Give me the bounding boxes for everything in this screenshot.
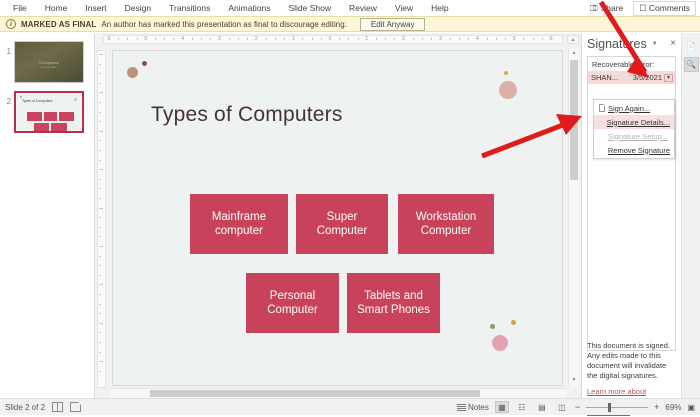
- thumb-box-5: [51, 123, 67, 131]
- signatures-pane-title: Signatures: [587, 37, 647, 51]
- ruler-tick-label: 6: [549, 36, 552, 42]
- vertical-ruler-strip: [97, 50, 106, 388]
- thumb-box-1: [27, 112, 42, 121]
- thumb-dot-a: [20, 96, 22, 98]
- ruler-tick-label: 5: [513, 36, 516, 42]
- slide-canvas[interactable]: Types of Computers Mainframe computer Su…: [112, 50, 563, 386]
- info-icon: i: [6, 19, 16, 29]
- share-label: Share: [601, 3, 624, 13]
- vertical-ruler-pip: [99, 92, 103, 93]
- chevron-down-icon[interactable]: ▼: [652, 41, 658, 47]
- ruler-tick-label: 3: [439, 36, 442, 42]
- ruler-tick-label: 1: [292, 36, 295, 42]
- menu-item-signature-details[interactable]: Signature Details...: [594, 115, 674, 129]
- thumbnail-1-subtitle: A presentation: [41, 66, 57, 69]
- ruler-pip: [533, 38, 534, 40]
- vertical-ruler-pip: [99, 342, 101, 343]
- view-normal-button[interactable]: ▦: [495, 401, 509, 413]
- ruler-strip: [103, 35, 563, 44]
- ruler-pip: [339, 38, 340, 40]
- shape-line-1: Workstation: [416, 211, 477, 223]
- slide-editor: 6543210123456 ▲ Types of Computers: [95, 33, 581, 398]
- horizontal-scrollbar-thumb[interactable]: [150, 390, 480, 397]
- shape-line-1: Super: [327, 211, 358, 223]
- vertical-ruler-pip: [99, 294, 101, 295]
- vertical-ruler-pip: [99, 227, 101, 228]
- ruler-pip: [523, 38, 524, 40]
- shape-line-1: Personal: [270, 290, 315, 302]
- status-bar: Slide 2 of 2 Notes ▦ ☷ ▤ ◫ − + 69% ▣: [0, 398, 700, 415]
- workspace: 1 Computers A presentation 2 Types of Co…: [0, 33, 700, 398]
- vertical-ruler-pip: [99, 160, 101, 161]
- vertical-ruler-pip: [99, 140, 101, 141]
- ruler-collapse-button[interactable]: ▲: [567, 35, 579, 44]
- slide-canvas-area: Types of Computers Mainframe computer Su…: [108, 46, 581, 398]
- ribbon-tab-view[interactable]: View: [386, 0, 422, 16]
- thumb-box-2: [44, 112, 57, 121]
- vertical-ruler-pip: [99, 131, 103, 132]
- menu-item-label: Sign Again...: [608, 104, 650, 113]
- ruler-pip: [118, 38, 119, 40]
- accessibility-icon[interactable]: [70, 402, 81, 412]
- ruler-pip: [155, 38, 156, 40]
- ruler-pip: [422, 38, 423, 40]
- ruler-pip: [376, 38, 377, 40]
- vertical-ruler-pip: [99, 64, 101, 65]
- ruler-pip: [450, 38, 451, 40]
- menu-item-label: Signature Details...: [607, 118, 670, 127]
- slide-thumbnail-panel[interactable]: 1 Computers A presentation 2 Types of Co…: [0, 33, 95, 398]
- ruler-pip: [468, 38, 469, 40]
- ruler-pip: [505, 38, 506, 40]
- ruler-pip: [201, 38, 202, 40]
- shape-text: Tablets and Smart Phones: [357, 289, 430, 318]
- edit-anyway-button[interactable]: Edit Anyway: [360, 18, 426, 31]
- notice-body-text: An author has marked this presentation a…: [101, 20, 346, 29]
- ruler-pip: [321, 38, 322, 40]
- thumbnail-preview-1[interactable]: Computers A presentation: [14, 41, 84, 83]
- shape-workstation-computer[interactable]: Workstation Computer: [398, 194, 494, 254]
- vertical-ruler-pip: [99, 352, 101, 353]
- thumbnail-item-2[interactable]: 2 Types of Computers: [0, 89, 94, 139]
- decor-dot-topleft-large: [127, 67, 138, 78]
- view-slide-sorter-button[interactable]: ☷: [515, 401, 529, 413]
- ruler-pip: [137, 38, 138, 40]
- notes-label: Notes: [468, 403, 489, 412]
- shape-super-computer[interactable]: Super Computer: [296, 194, 388, 254]
- vertical-ruler-pip: [99, 304, 101, 305]
- vertical-ruler-pip: [99, 265, 101, 266]
- vertical-ruler-pip: [99, 332, 101, 333]
- recoverable-error-label: Recoverable error:: [588, 57, 675, 71]
- thumb-box-3: [59, 112, 74, 121]
- share-button[interactable]: ⎄ Share: [584, 1, 630, 16]
- signatures-list: Recoverable error: SHAN... 3/5/2021 ▼ Si…: [587, 56, 676, 351]
- signature-context-menu: Sign Again... Signature Details... Signa…: [593, 99, 675, 159]
- ruler-pip: [192, 38, 193, 40]
- shape-line-2: Computer: [421, 225, 472, 237]
- notes-button[interactable]: Notes: [457, 403, 489, 412]
- comment-bubble-icon: ☐: [639, 3, 647, 14]
- vertical-ruler-pip: [99, 73, 101, 74]
- ruler-pip: [487, 38, 488, 40]
- zoom-level-label[interactable]: 69%: [665, 403, 681, 412]
- slide-title[interactable]: Types of Computers: [151, 103, 343, 127]
- ruler-tick-label: 0: [328, 36, 331, 42]
- decor-dot-bottom-orange: [511, 320, 516, 325]
- signature-entry[interactable]: SHAN... 3/5/2021 ▼: [588, 71, 675, 84]
- ruler-pip: [312, 38, 313, 40]
- ruler-pip: [247, 38, 248, 40]
- vertical-ruler-pip: [99, 198, 101, 199]
- shape-line-2: Computer: [317, 225, 368, 237]
- ribbon-tab-slide-show[interactable]: Slide Show: [279, 0, 340, 16]
- signatures-pane-icon[interactable]: 🔍: [684, 57, 699, 72]
- comments-button[interactable]: ☐ Comments: [633, 1, 696, 16]
- canvas-wrapper: Types of Computers Mainframe computer Su…: [95, 46, 581, 398]
- menu-item-sign-again[interactable]: Sign Again...: [594, 101, 674, 115]
- view-slideshow-button[interactable]: ◫: [555, 401, 569, 413]
- ruler-tick-label: 3: [218, 36, 221, 42]
- zoom-out-button[interactable]: −: [575, 402, 580, 412]
- shape-text: Mainframe computer: [212, 210, 266, 239]
- shape-personal-computer[interactable]: Personal Computer: [246, 273, 339, 333]
- thumbnail-2-title: Types of Computers: [22, 99, 52, 103]
- menu-item-remove-signature[interactable]: Remove Signature: [594, 143, 674, 157]
- slide-counter[interactable]: Slide 2 of 2: [5, 403, 45, 412]
- ruler-pip: [358, 38, 359, 40]
- ruler-pip: [496, 38, 497, 40]
- vertical-ruler-pip: [99, 150, 101, 151]
- shape-text: Workstation Computer: [416, 210, 477, 239]
- vertical-ruler-pip: [99, 371, 101, 372]
- vertical-ruler-pip: [99, 121, 101, 122]
- vertical-ruler-pip: [99, 208, 103, 209]
- ruler-pip: [431, 38, 432, 40]
- ruler-pip: [302, 38, 303, 40]
- decor-dot-bottom-green: [490, 324, 495, 329]
- ruler-tick-label: 1: [365, 36, 368, 42]
- ruler-pip: [385, 38, 386, 40]
- ruler-pip: [127, 38, 128, 40]
- ruler-pip: [266, 38, 267, 40]
- zoom-slider[interactable]: [586, 407, 648, 408]
- vertical-ruler-pip: [99, 236, 101, 237]
- shape-line-1: Tablets and: [364, 290, 423, 302]
- ruler-pip: [413, 38, 414, 40]
- notes-icon: [457, 403, 466, 411]
- scroll-down-icon[interactable]: ▼: [569, 375, 579, 386]
- vertical-ruler-pip: [99, 112, 101, 113]
- horizontal-scrollbar[interactable]: [110, 388, 567, 398]
- fit-to-window-icon[interactable]: ▣: [687, 403, 695, 412]
- vertical-ruler-pip: [99, 179, 101, 180]
- decor-dot-topleft-small: [142, 61, 147, 66]
- ruler-pip: [542, 38, 543, 40]
- signatures-pane-header: Signatures ▼ ×: [587, 37, 676, 51]
- designer-icon[interactable]: 📄: [684, 39, 699, 54]
- thumbnail-item-1[interactable]: 1 Computers A presentation: [0, 39, 94, 89]
- marked-as-final-bar: i MARKED AS FINAL An author has marked t…: [0, 16, 700, 32]
- ribbon-tab-review[interactable]: Review: [340, 0, 386, 16]
- horizontal-ruler: 6543210123456 ▲: [95, 33, 581, 46]
- vertical-ruler-pip: [99, 217, 101, 218]
- ruler-pip: [394, 38, 395, 40]
- vertical-ruler-pip: [99, 323, 103, 324]
- shape-line-2: Smart Phones: [357, 304, 430, 316]
- menu-item-label: Remove Signature: [608, 146, 670, 155]
- thumb-dot-b: [74, 98, 77, 101]
- vertical-ruler: [95, 46, 108, 398]
- spell-check-icon[interactable]: [52, 402, 63, 412]
- shape-line-2: Computer: [267, 304, 318, 316]
- thumb-box-4: [34, 123, 49, 131]
- scroll-up-icon[interactable]: ▲: [569, 48, 579, 59]
- thumbnail-1-title: Computers: [39, 60, 59, 65]
- thumbnail-preview-2[interactable]: Types of Computers: [14, 91, 84, 133]
- vertical-ruler-pip: [99, 275, 101, 276]
- menu-item-label: Signature Setup...: [608, 132, 668, 141]
- ruler-pip: [173, 38, 174, 40]
- vertical-ruler-pip: [99, 83, 101, 84]
- ribbon-tab-insert[interactable]: Insert: [76, 0, 115, 16]
- ribbon-tab-design[interactable]: Design: [116, 0, 160, 16]
- notice-strong-text: MARKED AS FINAL: [21, 20, 96, 29]
- ruler-pip: [348, 38, 349, 40]
- shape-mainframe-computer[interactable]: Mainframe computer: [190, 194, 288, 254]
- ruler-pip: [210, 38, 211, 40]
- signature-signer-name: SHAN...: [591, 73, 618, 82]
- ruler-tick-label: 2: [402, 36, 405, 42]
- ribbon-tab-file[interactable]: File: [4, 0, 36, 16]
- ribbon-tab-help[interactable]: Help: [422, 0, 457, 16]
- ruler-pip: [238, 38, 239, 40]
- ribbon-tab-transitions[interactable]: Transitions: [160, 0, 219, 16]
- shape-line-2: computer: [215, 225, 263, 237]
- document-signed-text: This document is signed.: [587, 341, 676, 351]
- thumbnail-number: 2: [4, 91, 14, 106]
- ruler-pip: [164, 38, 165, 40]
- ruler-tick-label: 4: [476, 36, 479, 42]
- ruler-tick-label: 5: [144, 36, 147, 42]
- vertical-ruler-pip: [99, 54, 103, 55]
- decor-dot-topright-small: [504, 71, 508, 75]
- vertical-ruler-pip: [99, 313, 101, 314]
- shape-tablets-smart-phones[interactable]: Tablets and Smart Phones: [347, 273, 440, 333]
- close-icon[interactable]: ×: [670, 39, 676, 49]
- share-icon: ⎄: [590, 3, 599, 14]
- shape-text: Personal Computer: [267, 289, 318, 318]
- vertical-ruler-pip: [99, 169, 103, 170]
- decor-dot-topright-large: [499, 81, 517, 99]
- ruler-tick-label: 4: [181, 36, 184, 42]
- vertical-scrollbar[interactable]: ▲ ▼: [568, 48, 579, 386]
- view-reading-button[interactable]: ▤: [535, 401, 549, 413]
- shape-line-1: Mainframe: [212, 211, 266, 223]
- vertical-scrollbar-thumb[interactable]: [570, 60, 578, 180]
- vertical-ruler-pip: [99, 188, 101, 189]
- ribbon-tab-animations[interactable]: Animations: [219, 0, 279, 16]
- ribbon-tab-home[interactable]: Home: [36, 0, 77, 16]
- zoom-slider-handle[interactable]: [608, 403, 611, 412]
- ruler-pip: [275, 38, 276, 40]
- vertical-ruler-pip: [99, 284, 103, 285]
- decor-dot-bottom-pink: [492, 335, 508, 351]
- vertical-ruler-pip: [99, 256, 101, 257]
- ruler-tick-label: 2: [255, 36, 258, 42]
- ruler-pip: [459, 38, 460, 40]
- vertical-ruler-pip: [99, 102, 101, 103]
- shape-text: Super Computer: [317, 210, 368, 239]
- vertical-ruler-pip: [99, 246, 103, 247]
- ruler-tick-label: 6: [107, 36, 110, 42]
- ribbon-tab-bar: File Home Insert Design Transitions Anim…: [0, 0, 700, 16]
- signature-invalidate-text: Any edits made to this document will inv…: [587, 351, 676, 381]
- menu-item-signature-setup: Signature Setup...: [594, 129, 674, 143]
- ribbon-right-actions: ⎄ Share ☐ Comments: [584, 1, 700, 16]
- signature-dropdown-arrow-icon[interactable]: ▼: [664, 74, 673, 82]
- document-icon: [599, 104, 605, 112]
- zoom-in-button[interactable]: +: [654, 402, 659, 412]
- ruler-pip: [284, 38, 285, 40]
- status-bar-right: Notes ▦ ☷ ▤ ◫ − + 69% ▣: [457, 401, 695, 413]
- signatures-pane: Signatures ▼ × Recoverable error: SHAN..…: [581, 33, 681, 398]
- comments-label: Comments: [649, 3, 690, 13]
- task-pane-icon-strip: 📄 🔍: [681, 33, 700, 398]
- ruler-pip: [229, 38, 230, 40]
- vertical-ruler-pip: [99, 361, 103, 362]
- thumbnail-number: 1: [4, 41, 14, 56]
